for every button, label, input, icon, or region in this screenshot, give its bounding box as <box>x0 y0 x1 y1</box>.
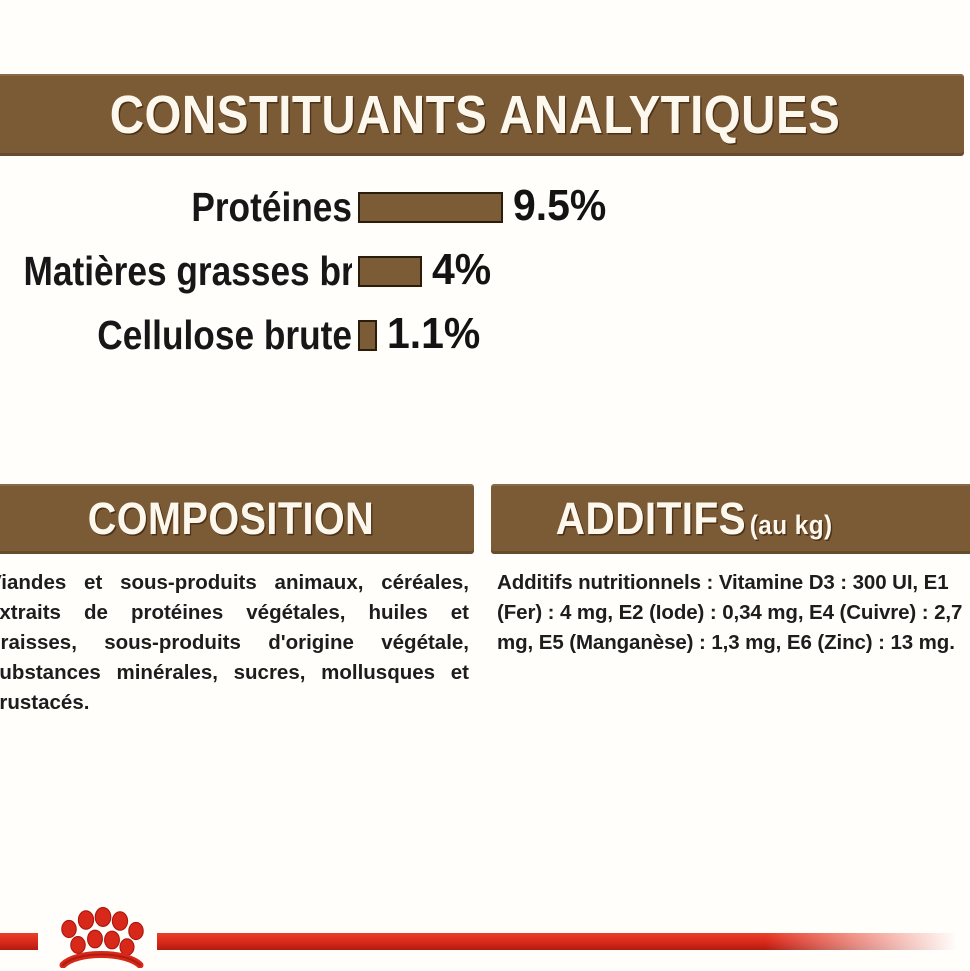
additifs-body-text: Additifs nutritionnels : Vitamine D3 : 3… <box>497 568 970 658</box>
analytics-header-title: CONSTITUANTS ANALYTIQUES <box>45 74 906 156</box>
brand-rule-right <box>157 933 957 950</box>
nutrient-value: 4% <box>432 240 491 304</box>
nutrient-value: 1.1% <box>387 304 480 368</box>
analytics-header-band: CONSTITUANTS ANALYTIQUES <box>0 74 964 156</box>
brand-rule-left <box>0 933 38 950</box>
additifs-unit-suffix: (au kg) <box>750 510 833 540</box>
royal-canin-crown-icon <box>47 896 155 968</box>
nutrient-bar <box>358 192 503 223</box>
additifs-header-band: ADDITIFS(au kg) <box>491 484 970 554</box>
nutrient-chart: Protéines 9.5% Matières grasses brutes 4… <box>0 176 700 368</box>
nutrient-label: Cellulose brute <box>23 304 352 368</box>
nutrient-row: Cellulose brute 1.1% <box>0 304 700 368</box>
nutrient-label: Matières grasses brutes <box>23 240 352 304</box>
composition-body-text: Viandes et sous-produits animaux, céréal… <box>0 568 473 718</box>
additifs-title-text: ADDITIFS <box>556 493 746 544</box>
nutrient-bar <box>358 320 377 351</box>
additifs-header-title: ADDITIFS(au kg) <box>491 484 929 560</box>
composition-header-band: COMPOSITION <box>0 484 474 554</box>
nutrient-row: Protéines 9.5% <box>0 176 700 240</box>
nutrient-bar <box>358 256 422 287</box>
composition-header-title: COMPOSITION <box>17 484 445 554</box>
nutrient-label: Protéines <box>23 176 352 240</box>
nutrient-row: Matières grasses brutes 4% <box>0 240 700 304</box>
nutrient-value: 9.5% <box>513 176 606 240</box>
